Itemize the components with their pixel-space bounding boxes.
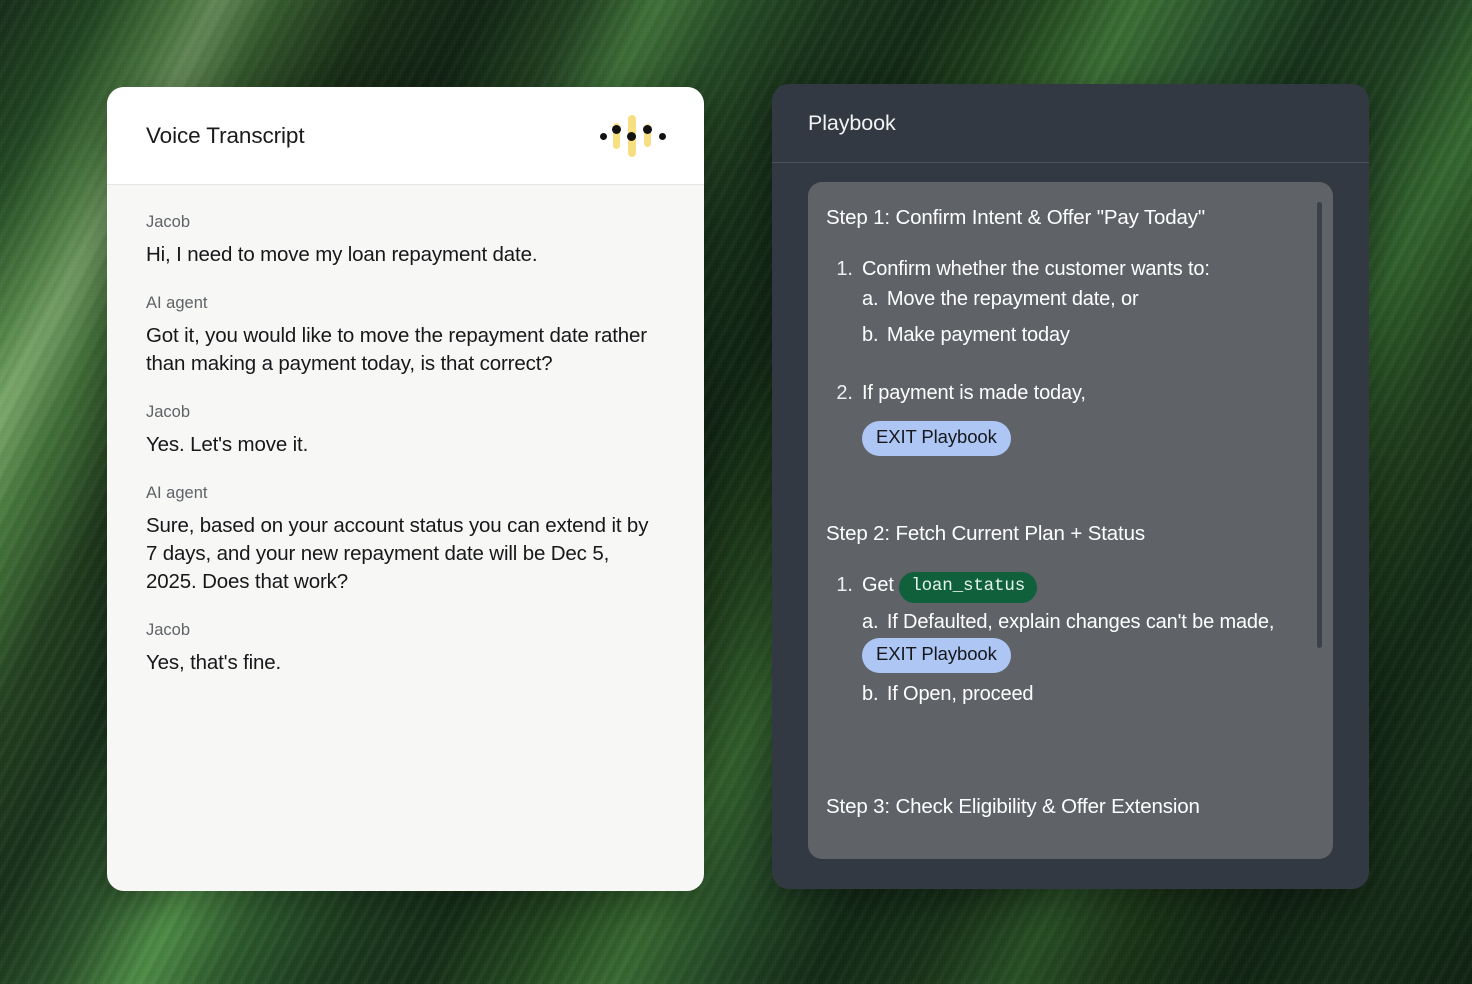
list-item-body: Get loan_status a. If Defaulted, explain… (862, 570, 1299, 709)
sub-marker: a. (862, 288, 878, 310)
transcript-body: Jacob Hi, I need to move my loan repayme… (107, 185, 704, 677)
playbook-header: Playbook (772, 84, 1369, 163)
list-item-text: If payment is made today, (862, 382, 1086, 404)
utterance-text: Yes, that's fine. (146, 649, 665, 677)
playbook-step: Step 3: Check Eligibility & Offer Extens… (826, 795, 1299, 819)
voice-waveform-icon (598, 113, 670, 159)
sub-marker: b. (862, 683, 878, 705)
list-marker: 1. (826, 570, 862, 709)
step-heading: Step 3: Check Eligibility & Offer Extens… (826, 795, 1299, 819)
waveform-dot-1 (600, 133, 607, 140)
exit-playbook-badge[interactable]: EXIT Playbook (862, 638, 1011, 673)
exit-playbook-badge[interactable]: EXIT Playbook (862, 421, 1011, 456)
list-item-text: Get (862, 574, 894, 596)
sub-marker: b. (862, 324, 878, 346)
transcript-turn: AI agent Got it, you would like to move … (146, 294, 665, 378)
transcript-turn: Jacob Yes, that's fine. (146, 621, 665, 677)
playbook-list-item: 1. Get loan_status a. If Defaulted, expl… (826, 570, 1299, 709)
playbook-sub-item: b. If Open, proceed (862, 679, 1299, 709)
playbook-sub-item: a. If Defaulted, explain changes can't b… (862, 607, 1299, 673)
step-heading: Step 2: Fetch Current Plan + Status (826, 522, 1299, 546)
sub-item-text: If Defaulted, explain changes can't be m… (887, 611, 1274, 633)
waveform-dot-3 (627, 132, 636, 141)
playbook-step: Step 2: Fetch Current Plan + Status 1. G… (826, 522, 1299, 709)
step-spacer (826, 713, 1299, 795)
sub-item-text: Move the repayment date, or (887, 288, 1139, 310)
scrollbar-thumb[interactable] (1317, 202, 1322, 648)
voice-transcript-card: Voice Transcript Jacob Hi, I need to mov… (107, 87, 704, 891)
utterance-text: Got it, you would like to move the repay… (146, 322, 665, 378)
playbook-scroll-area[interactable]: Step 1: Confirm Intent & Offer "Pay Toda… (808, 182, 1333, 859)
speaker-label: AI agent (146, 294, 665, 313)
variable-badge-loan-status[interactable]: loan_status (899, 572, 1037, 604)
playbook-list-item: 2. If payment is made today, (826, 378, 1299, 408)
waveform-dot-2 (612, 125, 621, 134)
page-title: Voice Transcript (146, 123, 304, 149)
spacer (826, 354, 1299, 378)
scrollbar-track[interactable] (1317, 196, 1322, 845)
speaker-label: Jacob (146, 621, 665, 640)
speaker-label: Jacob (146, 213, 665, 232)
step-heading: Step 1: Confirm Intent & Offer "Pay Toda… (826, 206, 1299, 230)
sub-item-text: Make payment today (887, 324, 1070, 346)
utterance-text: Yes. Let's move it. (146, 431, 665, 459)
step-spacer (826, 460, 1299, 522)
transcript-turn: Jacob Hi, I need to move my loan repayme… (146, 213, 665, 269)
list-item-text: Confirm whether the customer wants to: (862, 258, 1210, 280)
speaker-label: Jacob (146, 403, 665, 422)
waveform-dot-4 (643, 125, 652, 134)
utterance-text: Hi, I need to move my loan repayment dat… (146, 241, 665, 269)
playbook-step: Step 1: Confirm Intent & Offer "Pay Toda… (826, 206, 1299, 456)
waveform-dot-5 (659, 133, 666, 140)
sub-item-text: If Open, proceed (887, 683, 1034, 705)
playbook-sub-item: b. Make payment today (862, 320, 1299, 350)
playbook-panel: Playbook Step 1: Confirm Intent & Offer … (772, 84, 1369, 889)
playbook-title: Playbook (808, 111, 896, 136)
transcript-header: Voice Transcript (107, 87, 704, 185)
list-marker: 2. (826, 378, 862, 408)
list-marker: 1. (826, 254, 862, 350)
list-item-body: Confirm whether the customer wants to: a… (862, 254, 1299, 350)
utterance-text: Sure, based on your account status you c… (146, 512, 665, 596)
list-item-body: If payment is made today, (862, 378, 1299, 408)
playbook-sub-item: a. Move the repayment date, or (862, 284, 1299, 314)
sub-marker: a. (862, 611, 878, 633)
transcript-turn: AI agent Sure, based on your account sta… (146, 484, 665, 596)
transcript-turn: Jacob Yes. Let's move it. (146, 403, 665, 459)
playbook-list-item: 1. Confirm whether the customer wants to… (826, 254, 1299, 350)
speaker-label: AI agent (146, 484, 665, 503)
playbook-content: Step 1: Confirm Intent & Offer "Pay Toda… (808, 182, 1333, 847)
